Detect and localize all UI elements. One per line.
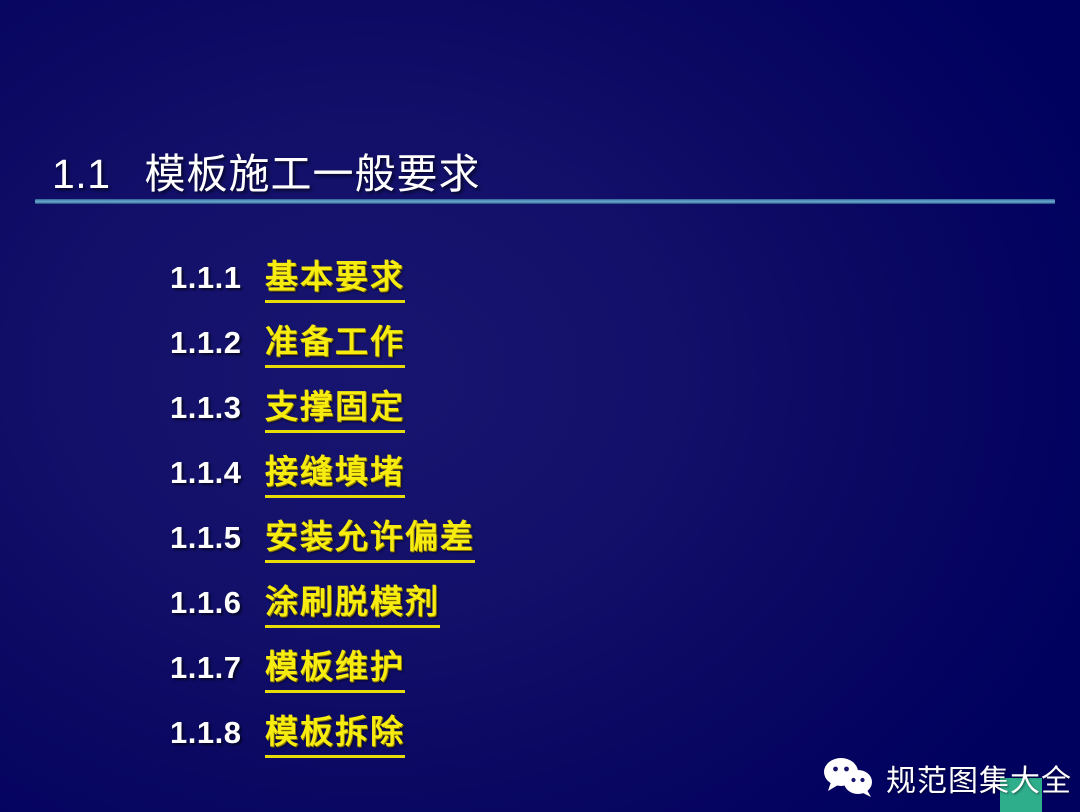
toc-item-link[interactable]: 模板拆除 bbox=[265, 705, 405, 758]
slide-title: 1.1 模板施工一般要求 bbox=[52, 140, 481, 200]
list-item[interactable]: 1.1.4 接缝填堵 bbox=[170, 445, 930, 510]
toc-item-number: 1.1.2 bbox=[170, 325, 265, 361]
toc-item-number: 1.1.6 bbox=[170, 585, 265, 621]
toc-item-number: 1.1.8 bbox=[170, 715, 265, 751]
toc-item-link[interactable]: 涂刷脱模剂 bbox=[265, 575, 440, 628]
watermark: 规范图集大全 bbox=[822, 748, 1072, 808]
toc-item-number: 1.1.1 bbox=[170, 260, 265, 296]
toc-item-number: 1.1.4 bbox=[170, 455, 265, 491]
wechat-icon bbox=[822, 757, 876, 799]
toc-item-link[interactable]: 基本要求 bbox=[265, 250, 405, 303]
toc-item-number: 1.1.7 bbox=[170, 650, 265, 686]
slide-title-number: 1.1 bbox=[52, 151, 111, 198]
table-of-contents: 1.1.1 基本要求 1.1.2 准备工作 1.1.3 支撑固定 1.1.4 接… bbox=[170, 250, 930, 770]
list-item[interactable]: 1.1.2 准备工作 bbox=[170, 315, 930, 380]
list-item[interactable]: 1.1.5 安装允许偏差 bbox=[170, 510, 930, 575]
toc-item-link[interactable]: 准备工作 bbox=[265, 315, 405, 368]
title-divider bbox=[35, 199, 1055, 204]
list-item[interactable]: 1.1.6 涂刷脱模剂 bbox=[170, 575, 930, 640]
toc-item-link[interactable]: 接缝填堵 bbox=[265, 445, 405, 498]
slide-title-text: 模板施工一般要求 bbox=[145, 140, 481, 200]
list-item[interactable]: 1.1.3 支撑固定 bbox=[170, 380, 930, 445]
toc-item-number: 1.1.5 bbox=[170, 520, 265, 556]
toc-item-link[interactable]: 支撑固定 bbox=[265, 380, 405, 433]
list-item[interactable]: 1.1.7 模板维护 bbox=[170, 640, 930, 705]
list-item[interactable]: 1.1.8 模板拆除 bbox=[170, 705, 930, 770]
presentation-slide: 1.1 模板施工一般要求 1.1.1 基本要求 1.1.2 准备工作 1.1.3… bbox=[0, 0, 1080, 812]
toc-item-number: 1.1.3 bbox=[170, 390, 265, 426]
list-item[interactable]: 1.1.1 基本要求 bbox=[170, 250, 930, 315]
watermark-text: 规范图集大全 bbox=[886, 756, 1072, 800]
toc-item-link[interactable]: 安装允许偏差 bbox=[265, 510, 475, 563]
toc-item-link[interactable]: 模板维护 bbox=[265, 640, 405, 693]
